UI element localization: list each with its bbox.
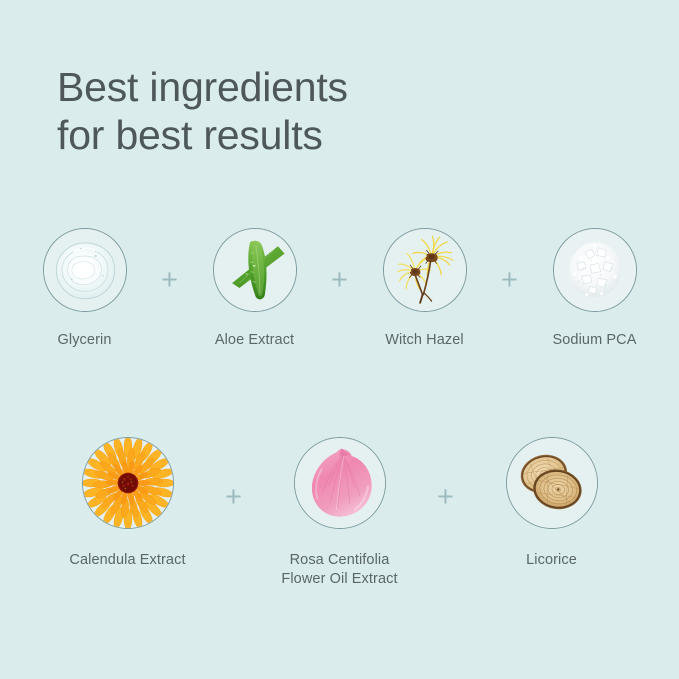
ingredient-aloe-extract: Aloe Extract xyxy=(191,228,319,350)
witch-hazel-flower-icon xyxy=(383,228,467,312)
plus-separator-icon: + xyxy=(319,266,361,295)
rose-petal-icon xyxy=(294,437,386,529)
licorice-root-slices-icon xyxy=(506,437,598,529)
glycerin-gel-icon xyxy=(43,228,127,312)
ingredient-label: Aloe Extract xyxy=(215,331,294,350)
page-title-line-1: Best ingredients xyxy=(57,63,577,111)
ingredient-sodium-pca: Sodium PCA xyxy=(531,228,659,350)
ingredient-licorice: Licorice xyxy=(477,437,627,570)
calendula-flower-icon xyxy=(82,437,174,529)
ingredient-label: Calendula Extract xyxy=(69,551,185,570)
ingredient-row-2: Calendula Extract + xyxy=(0,437,679,589)
ingredient-label: Sodium PCA xyxy=(552,331,636,350)
plus-separator-icon: + xyxy=(415,483,477,512)
page-title-line-2: for best results xyxy=(57,111,577,159)
aloe-leaf-icon xyxy=(213,228,297,312)
plus-separator-icon: + xyxy=(489,266,531,295)
plus-separator-icon: + xyxy=(203,483,265,512)
ingredient-row-1: Glycerin + xyxy=(0,228,679,350)
plus-separator-icon: + xyxy=(149,266,191,295)
ingredient-label: Licorice xyxy=(526,551,577,570)
page-title: Best ingredients for best results xyxy=(57,63,577,159)
ingredients-infographic: Best ingredients for best results xyxy=(0,0,679,679)
ingredient-label: Rosa Centifolia Flower Oil Extract xyxy=(281,551,397,589)
ingredient-witch-hazel: Witch Hazel xyxy=(361,228,489,350)
salt-crystal-icon xyxy=(553,228,637,312)
ingredient-label: Witch Hazel xyxy=(385,331,463,350)
ingredient-glycerin: Glycerin xyxy=(21,228,149,350)
ingredient-label: Glycerin xyxy=(58,331,112,350)
ingredient-calendula-extract: Calendula Extract xyxy=(53,437,203,570)
ingredient-rosa-centifolia: Rosa Centifolia Flower Oil Extract xyxy=(265,437,415,589)
